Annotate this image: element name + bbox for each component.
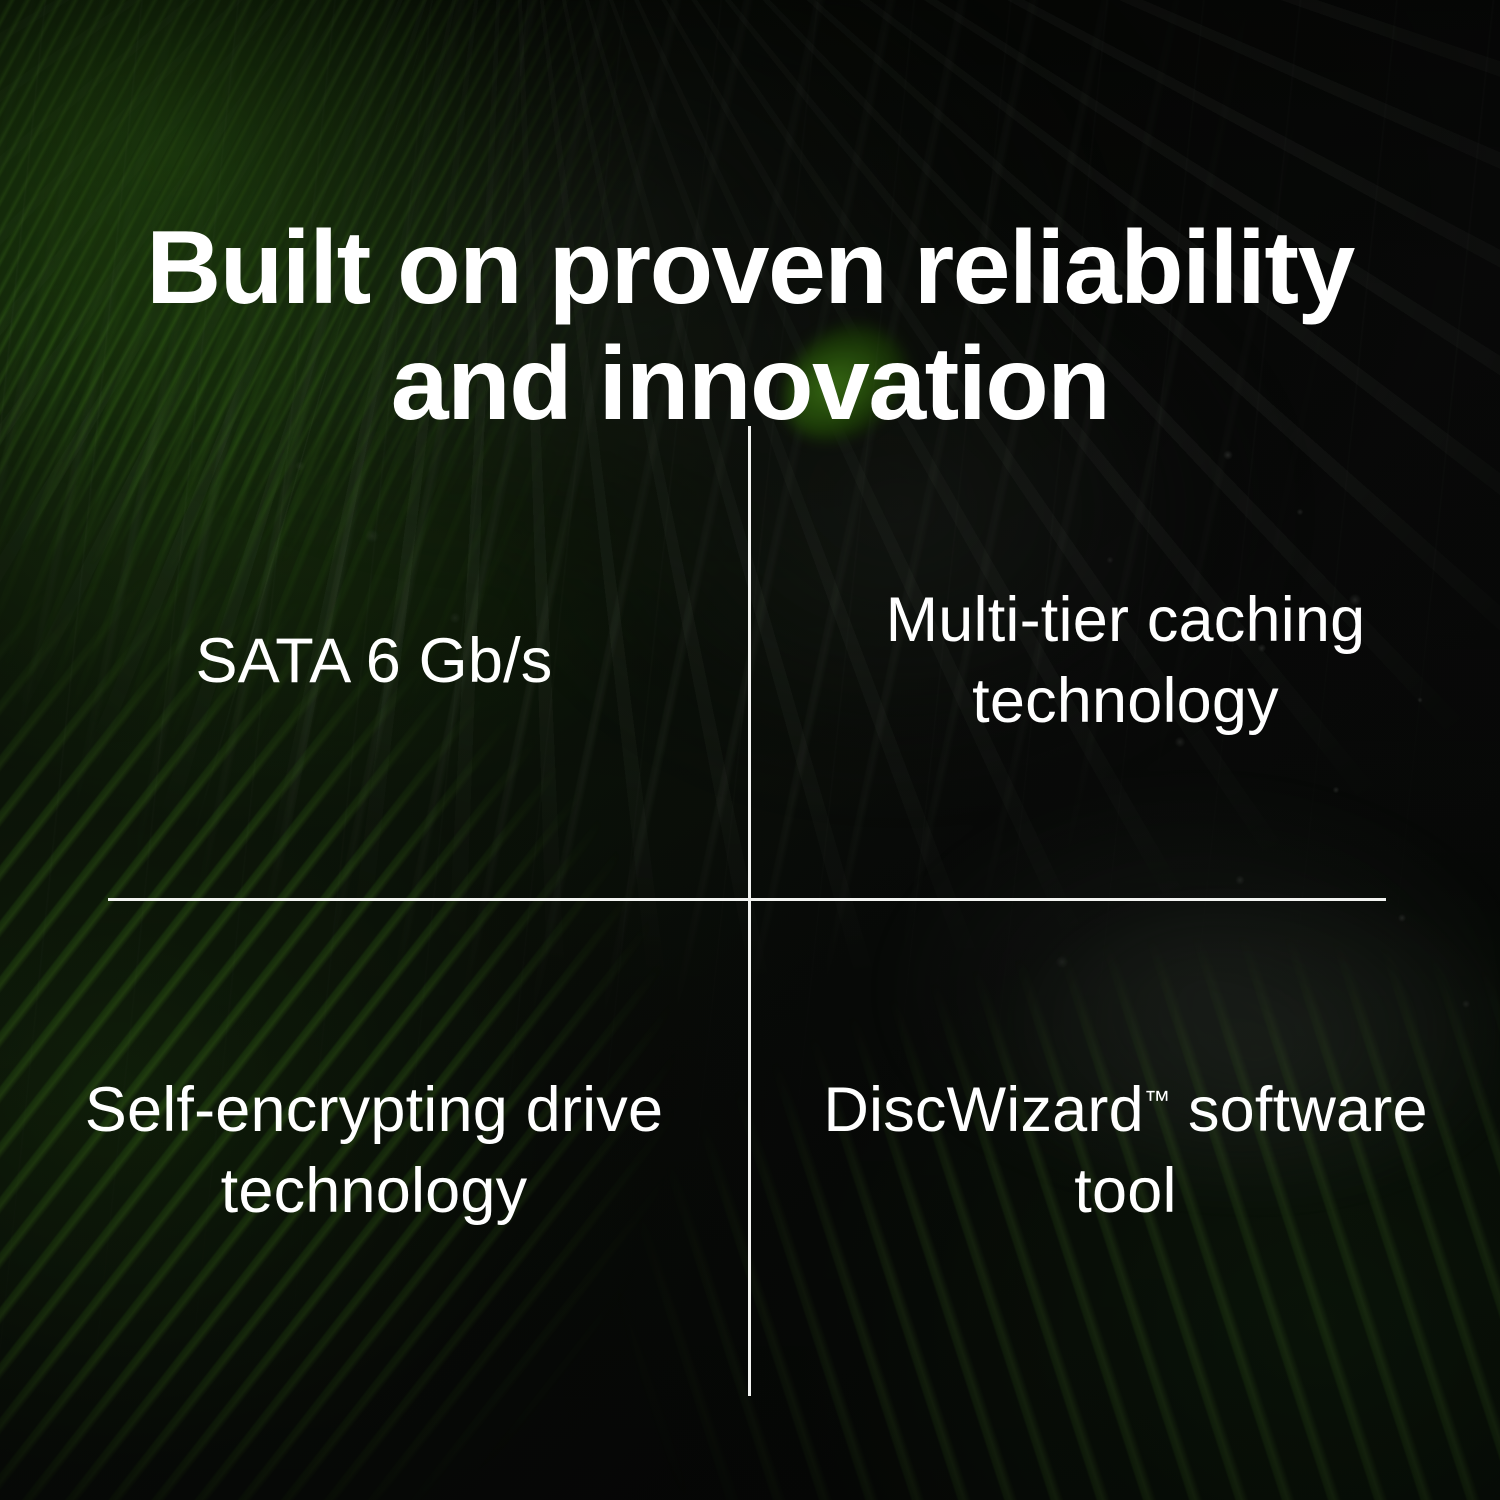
feature-label-self-encrypting-drive: Self-encrypting drive technology bbox=[38, 1070, 710, 1231]
feature-cell-discwizard: DiscWizard™ software tool bbox=[751, 901, 1500, 1400]
page-title: Built on proven reliability and innovati… bbox=[0, 210, 1500, 443]
feature-label-discwizard-name: DiscWizard bbox=[823, 1075, 1144, 1145]
trademark-symbol: ™ bbox=[1144, 1085, 1170, 1115]
feature-label-multi-tier-caching: Multi-tier caching technology bbox=[789, 580, 1462, 741]
feature-cell-multi-tier-caching: Multi-tier caching technology bbox=[751, 424, 1500, 898]
feature-graphic: Built on proven reliability and innovati… bbox=[0, 0, 1500, 1500]
page-title-line-1: Built on proven reliability bbox=[70, 210, 1430, 326]
feature-label-discwizard: DiscWizard™ software tool bbox=[789, 1070, 1462, 1231]
feature-cell-self-encrypting-drive: Self-encrypting drive technology bbox=[0, 901, 748, 1400]
content-overlay: Built on proven reliability and innovati… bbox=[0, 0, 1500, 1500]
feature-grid: SATA 6 Gb/s Multi-tier caching technolog… bbox=[0, 424, 1500, 1400]
feature-label-sata: SATA 6 Gb/s bbox=[195, 621, 552, 702]
feature-cell-sata: SATA 6 Gb/s bbox=[0, 424, 748, 898]
